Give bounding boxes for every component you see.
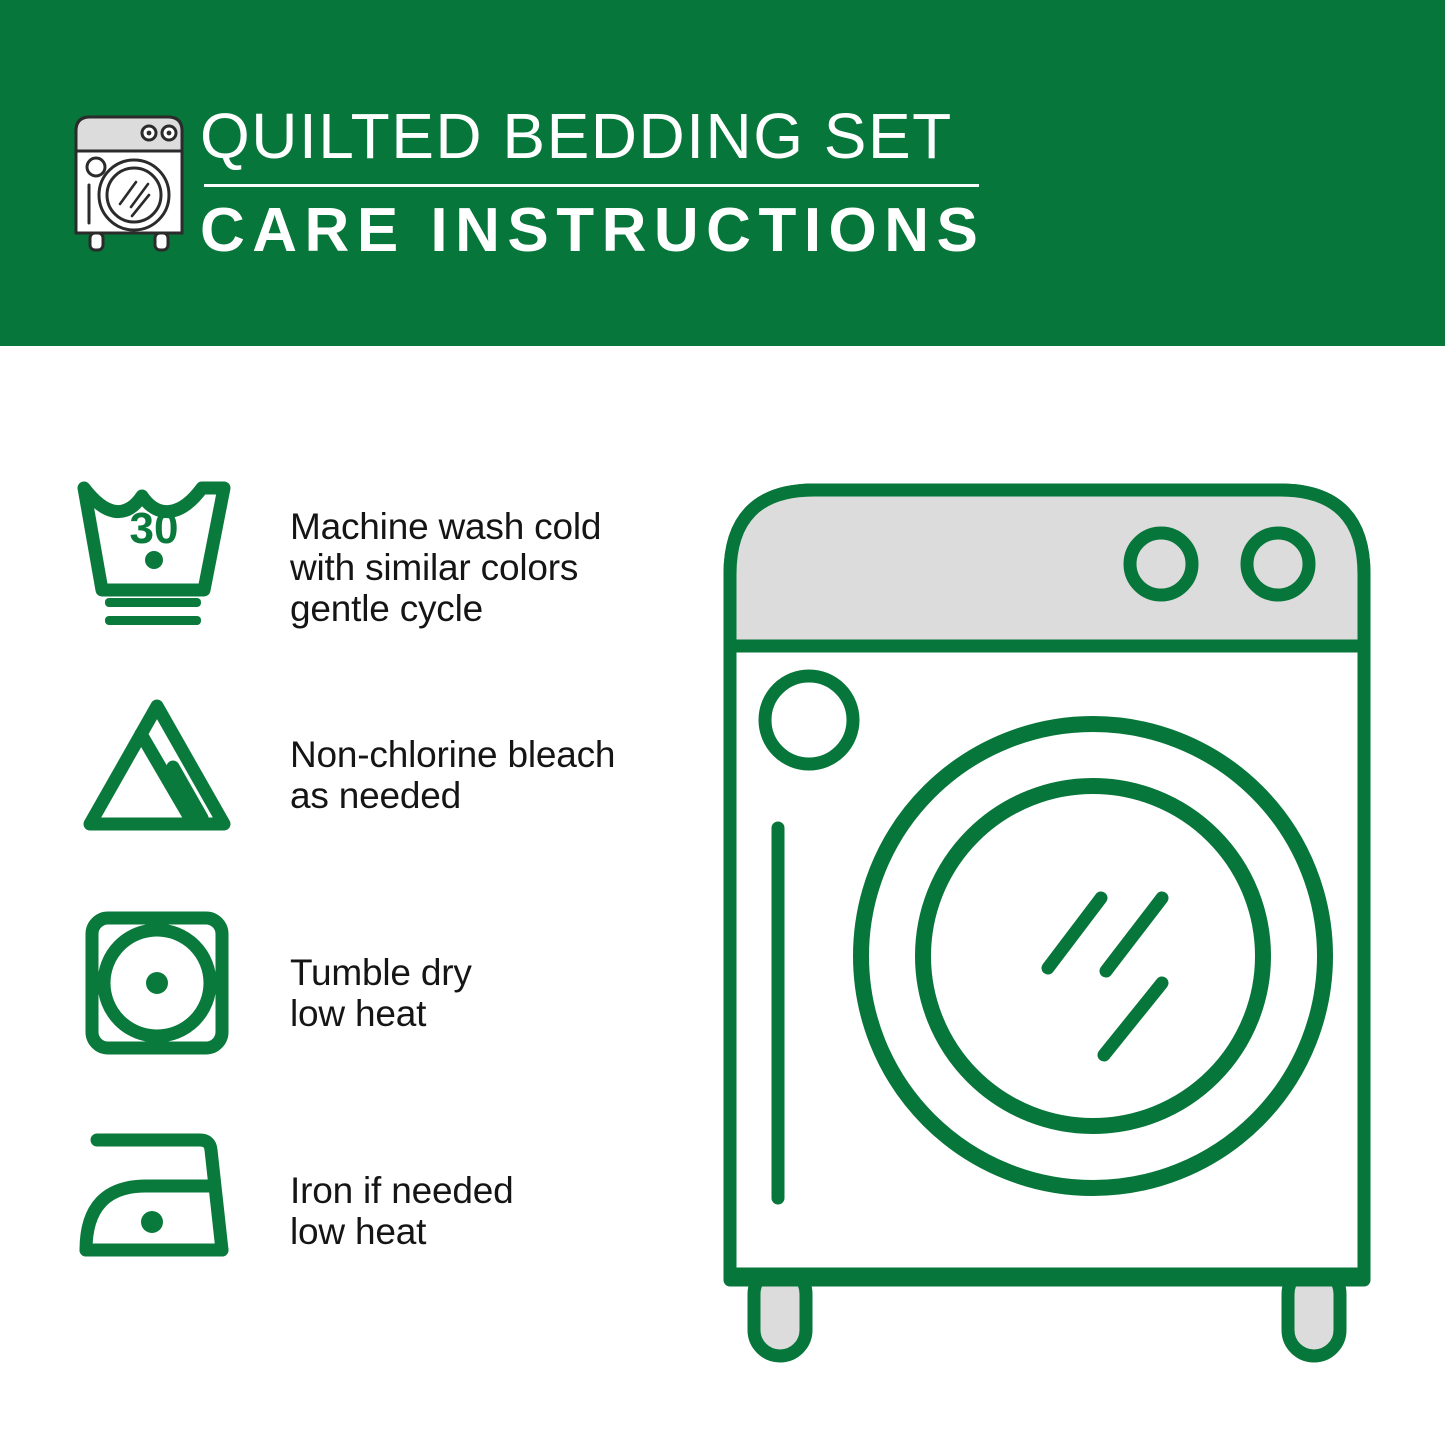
iron-icon	[72, 1124, 242, 1284]
bleach-triangle-icon	[72, 688, 242, 848]
care-row-tumble-dry-label: Tumble dry low heat	[290, 952, 472, 1034]
care-instructions-page: QUILTED BEDDING SET CARE INSTRUCTIONS 30	[0, 0, 1445, 1445]
care-row-bleach: Non-chlorine bleach as needed	[0, 688, 700, 906]
care-row-iron-label: Iron if needed low heat	[290, 1170, 513, 1252]
washing-machine-icon	[68, 103, 190, 253]
care-row-tumble-dry: Tumble dry low heat	[0, 906, 700, 1124]
header-divider	[204, 184, 979, 187]
header-text-block: QUILTED BEDDING SET CARE INSTRUCTIONS	[200, 100, 990, 265]
front-load-washing-machine-illustration	[718, 478, 1408, 1368]
wash-tub-30-icon: 30	[72, 470, 242, 630]
care-row-machine-wash-label: Machine wash cold with similar colors ge…	[290, 506, 601, 629]
wash-temperature-label: 30	[130, 504, 179, 553]
care-instruction-list: 30 Machine wash cold with similar colors…	[0, 470, 700, 1342]
care-row-bleach-label: Non-chlorine bleach as needed	[290, 734, 615, 816]
header-band: QUILTED BEDDING SET CARE INSTRUCTIONS	[0, 0, 1445, 346]
page-title: QUILTED BEDDING SET	[200, 100, 990, 172]
care-row-machine-wash: 30 Machine wash cold with similar colors…	[0, 470, 700, 688]
care-row-iron: Iron if needed low heat	[0, 1124, 700, 1342]
page-subtitle: CARE INSTRUCTIONS	[200, 197, 990, 265]
tumble-dry-icon	[72, 906, 242, 1066]
